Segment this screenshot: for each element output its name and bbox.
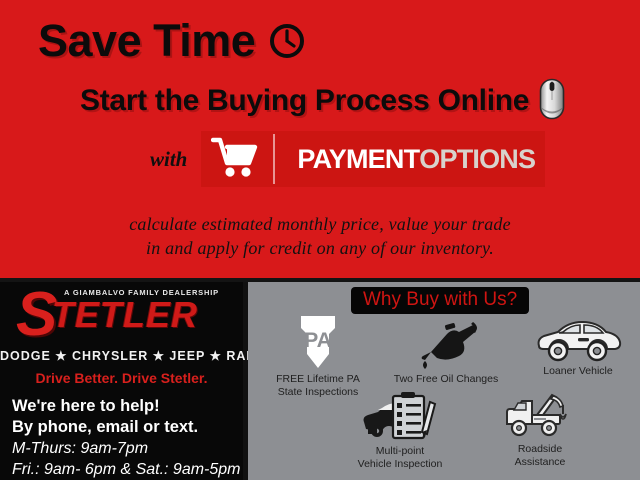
dealer-info-panel: S A GIAMBALVO FAMILY DEALERSHIP TETLER D… — [0, 282, 243, 480]
benefits-panel: Why Buy with Us? PA FREE Lifetime PA Sta… — [248, 282, 640, 480]
computer-mouse-icon — [539, 78, 565, 125]
tagline-line-1: calculate estimated monthly price, value… — [0, 212, 640, 236]
dealership-promo-banner: Save Time Start the Buying Process Onlin… — [0, 0, 640, 480]
brand-word-payment: PAYMENT — [297, 144, 419, 175]
hero-section: Save Time Start the Buying Process Onlin… — [0, 0, 640, 278]
with-label: with — [150, 147, 187, 172]
benefit-label-line-1: Two Free Oil Changes — [376, 373, 516, 386]
benefit-label-line-2: Vehicle Inspection — [326, 458, 474, 471]
benefit-multipoint-inspection: Multi-point Vehicle Inspection — [326, 390, 474, 470]
hours-weekday: M-Thurs: 9am-7pm — [12, 438, 244, 459]
benefit-label-line-1: FREE Lifetime PA — [258, 373, 378, 386]
brand-word-options: OPTIONS — [419, 144, 535, 175]
logo-wordmark: TETLER — [52, 294, 198, 336]
benefit-oil-changes: Two Free Oil Changes — [376, 318, 516, 386]
headline-start-buying: Start the Buying Process Online — [80, 83, 529, 119]
oil-can-icon — [376, 318, 516, 370]
benefit-loaner-vehicle: Loaner Vehicle — [516, 314, 640, 378]
help-line-1: We're here to help! — [12, 396, 244, 417]
hours-weekend: Fri.: 9am- 6pm & Sat.: 9am-5pm — [12, 459, 244, 480]
brand-list: DODGE ★ CHRYSLER ★ JEEP ★ RAM — [0, 348, 243, 363]
benefit-pa-inspections: PA FREE Lifetime PA State Inspections — [258, 314, 378, 398]
headline-row-2: Start the Buying Process Online — [80, 76, 565, 125]
clock-icon — [267, 21, 307, 66]
benefit-label-line-1: Roadside — [476, 443, 604, 456]
hero-tagline: calculate estimated monthly price, value… — [0, 212, 640, 260]
svg-text:PA: PA — [304, 329, 332, 352]
headline-save-time: Save Time — [38, 16, 255, 66]
dealer-slogan: Drive Better. Drive Stetler. — [0, 370, 243, 386]
payment-options-logo: with PAYMENT OPTIONS — [150, 131, 545, 187]
stetler-logo: S A GIAMBALVO FAMILY DEALERSHIP TETLER — [0, 282, 243, 344]
logo-divider — [273, 134, 275, 184]
pa-keystone-icon: PA — [258, 314, 378, 370]
headline-row-1: Save Time — [38, 16, 307, 66]
inspection-checklist-icon — [326, 390, 474, 442]
hours-block: We're here to help! By phone, email or t… — [12, 396, 244, 480]
tagline-line-2: in and apply for credit on any of our in… — [0, 236, 640, 260]
shopping-cart-icon — [211, 135, 259, 184]
benefits-heading: Why Buy with Us? — [351, 287, 529, 314]
help-line-2: By phone, email or text. — [12, 417, 244, 438]
benefit-label-line-1: Loaner Vehicle — [516, 365, 640, 378]
tow-truck-icon — [476, 390, 604, 440]
payment-options-panel: PAYMENT OPTIONS — [201, 131, 545, 187]
benefit-label-line-1: Multi-point — [326, 445, 474, 458]
benefit-roadside-assistance: Roadside Assistance — [476, 390, 604, 468]
car-icon — [516, 314, 640, 362]
benefit-label-line-2: Assistance — [476, 456, 604, 469]
